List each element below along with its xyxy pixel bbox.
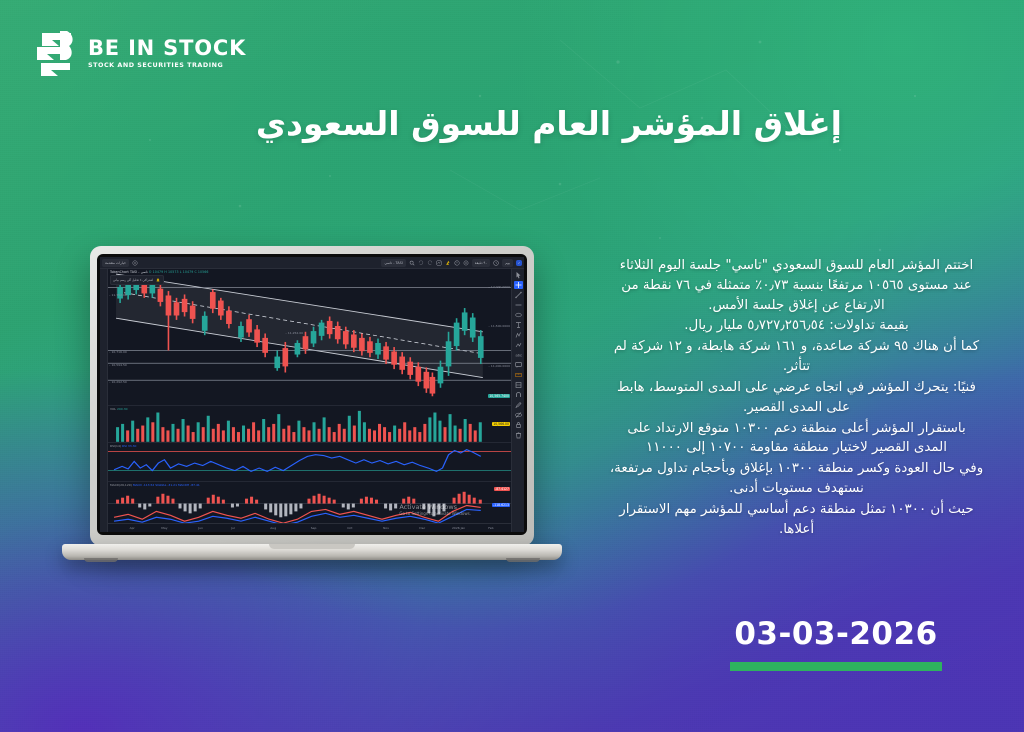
legend-ticker: TASI - تاسي [130,270,148,274]
article-paragraph: فنيًا: يتحرك المؤشر في اتجاه عرضي على ال… [609,378,984,418]
macd-values: MACD -113.52 SIGNAL -31.21 MACDH -87.41 [133,483,200,487]
article-paragraph: بقيمة تداولات: ٥٫٧٢٧٫٢٥٦٫٥٤ مليار ريال. [609,316,984,336]
cursor-icon[interactable] [514,271,523,279]
chart-price-label: 11,252.00 [285,331,303,335]
page-title: إغلاق المؤشر العام للسوق السعودي [256,104,842,143]
symbol-search-input[interactable]: TASI - تاسي [381,259,405,267]
bookmark-icon[interactable] [445,260,451,266]
chart-price-label: 10,292.50 [109,380,127,384]
price-tick: 11,500.0000 [488,324,510,328]
ruler-icon[interactable] [514,371,523,379]
laptop-screen: يوم ٩٠ دقيقة TASI - تاسي خيارات متقدمة [100,257,524,532]
volume-value: 290.30 [117,407,128,411]
brand-logo: BE IN STOCK STOCK AND SECURITIES TRADING [33,28,246,78]
article-paragraph: كما أن هناك ٩٥ شركة صاعدة، و ١٦١ شركة ها… [609,337,984,377]
svg-text:abc: abc [515,353,521,358]
redo-icon[interactable] [427,260,433,266]
draw-mode-icon[interactable] [514,401,523,409]
rsi-pane[interactable]: RSI(14) RSI 33.30 [108,443,511,482]
price-tick: 12,000.0000 [488,285,510,289]
alert-price-tag: 10,566.00 [492,422,510,426]
last-price-tag: 10,565.7400 [488,394,510,398]
laptop-base-notch [269,544,355,549]
laptop-foot-right [506,558,540,562]
price-pane[interactable]: 11,752.00 11,252.00 10,716.00 10,594.50 … [108,269,511,406]
laptop-foot-left [84,558,118,562]
horizontal-line-icon[interactable] [514,301,523,309]
volume-label: VOL [110,407,116,411]
abc-icon[interactable]: abc [514,351,523,359]
hide-icon[interactable] [514,411,523,419]
article-paragraph: حيث أن ١٠٣٠٠ تمثل منطقة دعم أساسي للمؤشر… [609,500,984,540]
magnet-icon[interactable] [514,391,523,399]
price-axis[interactable]: 12,000.0000 11,500.0000 11,000.0000 10,5… [477,269,511,532]
chart-price-label: 11,752.00 [109,293,127,297]
brand-tagline: STOCK AND SECURITIES TRADING [88,62,246,68]
search-icon[interactable] [409,260,415,266]
time-tick: Jul [231,526,235,530]
volume-pane[interactable]: VOL 290.30 [108,406,511,443]
date-underline-rule [730,662,942,671]
time-tick: May [161,526,167,530]
chart-legend: TokenChart TASI - تاسي O 10479 H 10573 L… [110,270,209,274]
chart-tools-label: اشتراكي ٤ تحليل آلي رسم بياني [113,278,153,282]
price-tick: 11,000.0000 [488,364,510,368]
crosshair-icon[interactable] [514,281,523,289]
time-tick: Nov [383,526,389,530]
trash-icon[interactable] [514,431,523,439]
pencil-icon[interactable] [516,260,522,266]
lock-icon[interactable] [514,421,523,429]
legend-ohlc: O 10479 H 10573 L 10479 C 10566 [149,270,209,274]
forecast-icon[interactable] [514,341,523,349]
publish-date: 03-03-2026 [730,616,942,652]
laptop-mockup: يوم ٩٠ دقيقة TASI - تاسي خيارات متقدمة [62,246,562,586]
article-body: اختتم المؤشر العام للسوق السعودي "تاسي" … [609,256,984,541]
settings-icon[interactable] [463,260,469,266]
article-paragraph: اختتم المؤشر العام للسوق السعودي "تاسي" … [609,256,984,315]
advanced-options-menu[interactable]: خيارات متقدمة [102,259,129,267]
drawing-toolbar[interactable]: abc [511,269,524,532]
rsi-pane-label: RSI(14) RSI 33.30 [110,444,136,448]
macd-signal-tag: -118.6213 [492,503,510,507]
rsi-series-svg [108,443,511,481]
legend-symbol: TokenChart [110,270,129,274]
undo-icon[interactable] [418,260,424,266]
left-rail[interactable] [100,269,108,532]
rsi-label: RSI(14) [110,444,121,448]
text-icon[interactable] [514,321,523,329]
chart-price-label: 10,594.50 [109,363,127,367]
laptop-lid: يوم ٩٠ دقيقة TASI - تاسي خيارات متقدمة [90,246,534,546]
volume-series-svg [108,406,511,442]
time-tick: Sep [311,526,317,530]
bell-icon[interactable] [155,277,161,283]
chart-panes: 11,752.00 11,252.00 10,716.00 10,594.50 … [108,269,511,532]
time-axis[interactable]: Apr May Jun Jul Aug Sep Oct Nov Dec 2026… [108,523,511,532]
layers-icon[interactable] [132,260,138,266]
chart-tools-strip[interactable]: اشتراكي ٤ تحليل آلي رسم بياني [110,275,164,285]
rsi-value: RSI 33.30 [122,444,136,448]
alert-icon[interactable] [454,260,460,266]
chart-canvas[interactable]: TokenChart TASI - تاسي O 10479 H 10573 L… [108,269,511,532]
laptop-bezel: يوم ٩٠ دقيقة TASI - تاسي خيارات متقدمة [97,254,527,535]
laptop-base [62,544,562,560]
interval-button[interactable]: ٩٠ دقيقة [472,259,490,267]
shapes-icon[interactable] [514,311,523,319]
chart-workspace: TokenChart TASI - تاسي O 10479 H 10573 L… [100,269,524,532]
time-tick: Apr [130,526,135,530]
macd-hist-tag: -87.4127 [494,487,510,491]
macd-label: MACD(26,129) [110,483,132,487]
be-in-stock-arrows-logo-icon [33,28,79,78]
trend-line-icon[interactable] [514,291,523,299]
brand-name: BE IN STOCK [88,38,246,59]
clock-icon[interactable] [493,260,499,266]
price-series-svg [108,269,511,405]
volume-pane-label: VOL 290.30 [110,407,128,411]
article-paragraph: باستقرار المؤشر أعلى منطقة دعم ١٠٣٠٠ متو… [609,419,984,459]
time-tick: Aug [270,526,276,530]
replay-button[interactable]: يوم [502,259,513,267]
article-paragraph: وفي حال العودة وكسر منطقة ١٠٣٠٠ بإغلاق و… [609,459,984,499]
date-block: 03-03-2026 [730,616,942,671]
note-icon[interactable] [514,361,523,369]
time-tick: Feb [488,526,493,530]
indicators-icon[interactable] [436,260,442,266]
pattern-icon[interactable] [514,331,523,339]
time-tick: 2026 Jan [452,526,465,530]
macd-pane-label: MACD(26,129) MACD -113.52 SIGNAL -31.21 … [110,483,200,487]
time-tick: Jun [198,526,203,530]
measure-icon[interactable] [514,381,523,389]
time-tick: Oct [347,526,352,530]
chart-price-label: 10,716.00 [109,350,127,354]
chart-toolbar[interactable]: يوم ٩٠ دقيقة TASI - تاسي خيارات متقدمة [100,257,524,269]
time-tick: Dec [419,526,425,530]
